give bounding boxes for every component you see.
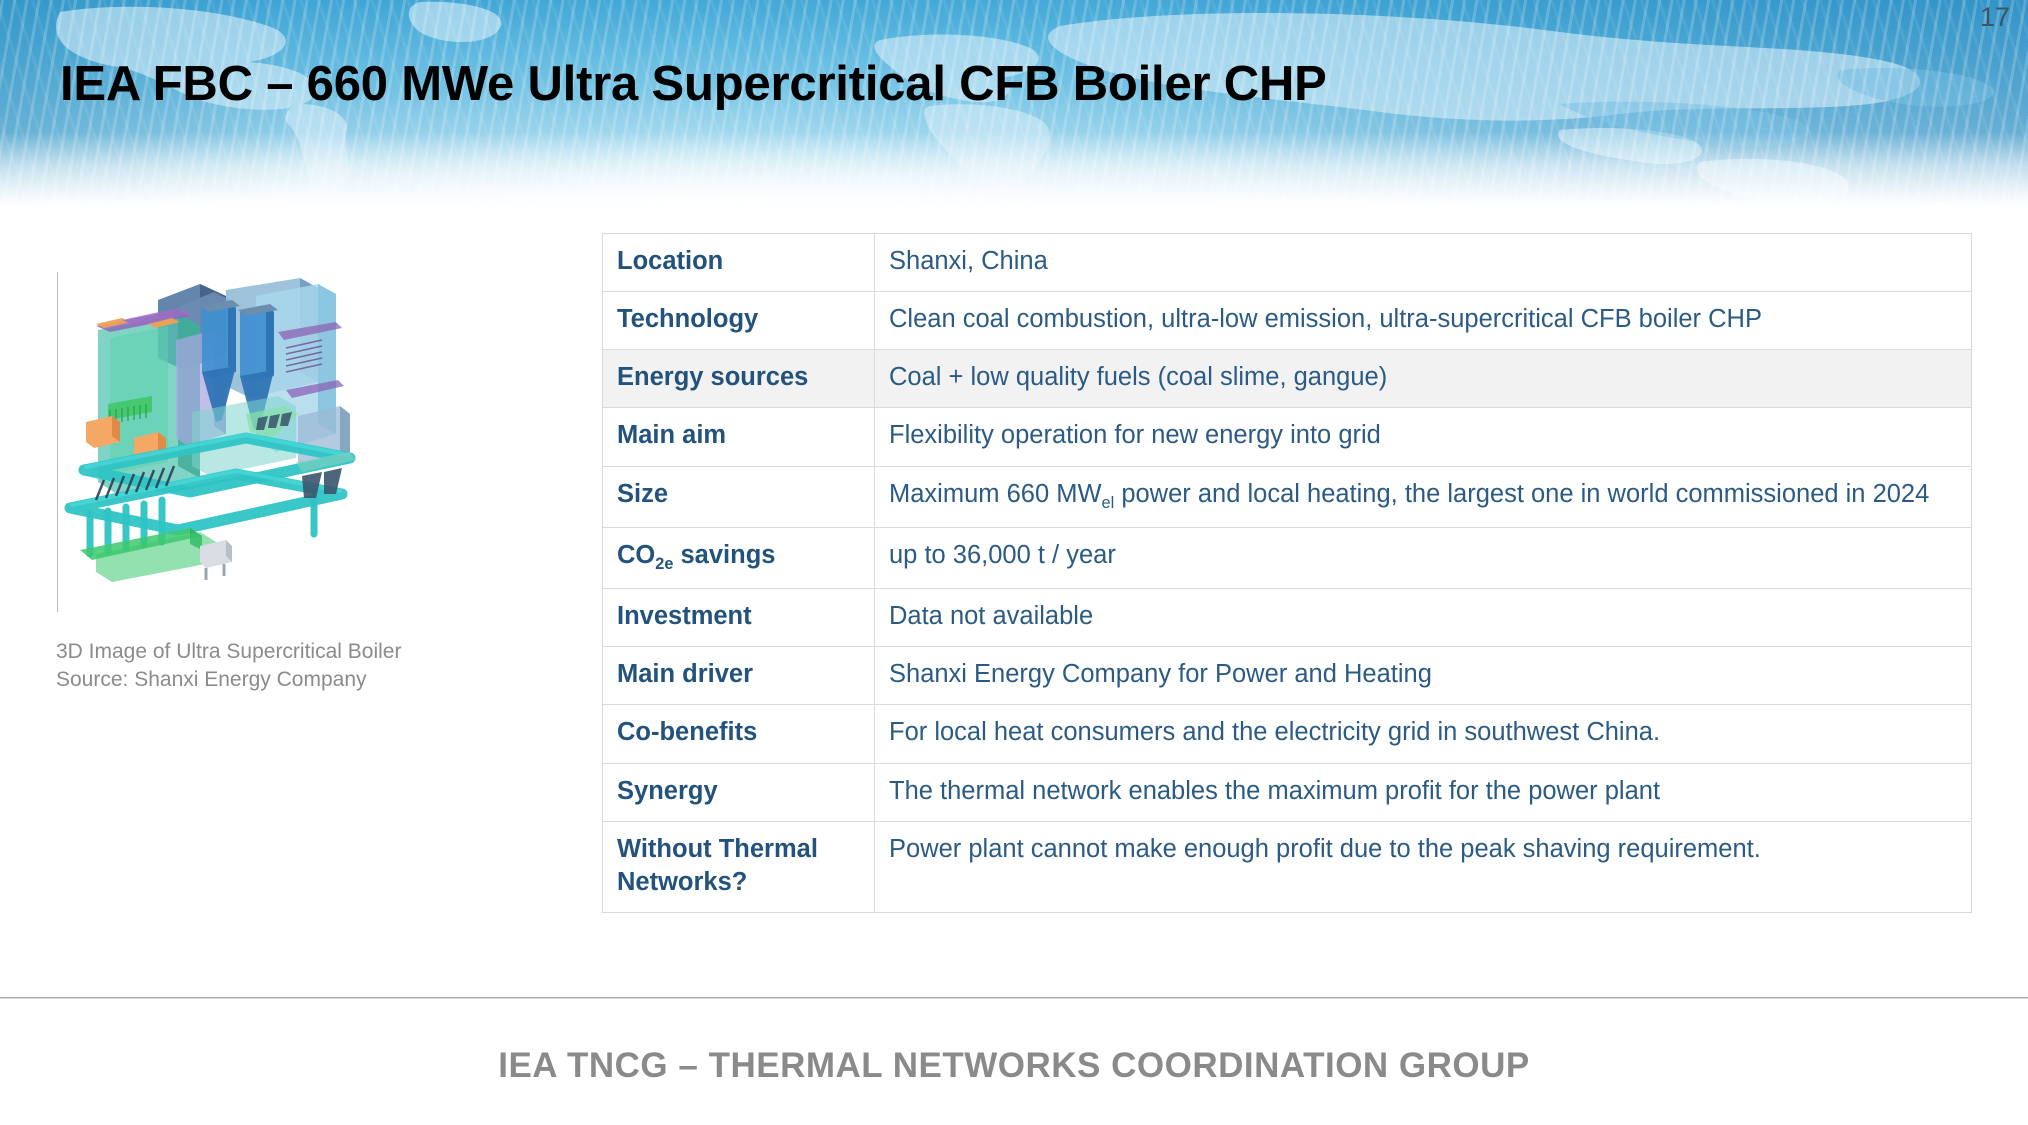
boiler-3d-render-icon bbox=[50, 262, 370, 582]
spec-table-body: LocationShanxi, ChinaTechnologyClean coa… bbox=[603, 234, 1972, 913]
spec-value-cell: up to 36,000 t / year bbox=[875, 527, 1972, 588]
spec-value-cell: Shanxi Energy Company for Power and Heat… bbox=[875, 647, 1972, 705]
table-row: SizeMaximum 660 MWel power and local hea… bbox=[603, 466, 1972, 527]
table-row: Main driverShanxi Energy Company for Pow… bbox=[603, 647, 1972, 705]
figure-panel: 3D Image of Ultra Supercritical Boiler S… bbox=[40, 250, 560, 710]
spec-label-cell: CO2e savings bbox=[603, 527, 875, 588]
spec-value-cell: Power plant cannot make enough profit du… bbox=[875, 821, 1972, 912]
slide-header-banner: 17 IEA FBC – 660 MWe Ultra Supercritical… bbox=[0, 0, 2028, 206]
spec-value-cell: For local heat consumers and the electri… bbox=[875, 705, 1972, 763]
spec-label-cell: Energy sources bbox=[603, 350, 875, 408]
footer-divider bbox=[0, 997, 2028, 999]
spec-label-cell: Size bbox=[603, 466, 875, 527]
spec-value-cell: Clean coal combustion, ultra-low emissio… bbox=[875, 292, 1972, 350]
spec-label-cell: Main driver bbox=[603, 647, 875, 705]
table-row: Main aimFlexibility operation for new en… bbox=[603, 408, 1972, 466]
table-row: InvestmentData not available bbox=[603, 589, 1972, 647]
table-row: SynergyThe thermal network enables the m… bbox=[603, 763, 1972, 821]
spec-value-cell: Maximum 660 MWel power and local heating… bbox=[875, 466, 1972, 527]
spec-value-cell: Data not available bbox=[875, 589, 1972, 647]
spec-label-cell: Co-benefits bbox=[603, 705, 875, 763]
table-row: TechnologyClean coal combustion, ultra-l… bbox=[603, 292, 1972, 350]
page-title: IEA FBC – 660 MWe Ultra Supercritical CF… bbox=[60, 56, 1327, 112]
spec-value-cell: Flexibility operation for new energy int… bbox=[875, 408, 1972, 466]
slide-number: 17 bbox=[1980, 2, 2010, 33]
footer-label: IEA TNCG – THERMAL NETWORKS COORDINATION… bbox=[0, 1046, 2028, 1086]
figure-caption: 3D Image of Ultra Supercritical Boiler S… bbox=[56, 638, 401, 693]
table-row: LocationShanxi, China bbox=[603, 234, 1972, 292]
table-row: Energy sourcesCoal + low quality fuels (… bbox=[603, 350, 1972, 408]
table-row: Without Thermal Networks?Power plant can… bbox=[603, 821, 1972, 912]
spec-value-cell: Coal + low quality fuels (coal slime, ga… bbox=[875, 350, 1972, 408]
spec-label-cell: Synergy bbox=[603, 763, 875, 821]
project-spec-table: LocationShanxi, ChinaTechnologyClean coa… bbox=[602, 233, 1972, 913]
header-bottom-fade bbox=[0, 132, 2028, 206]
spec-label-cell: Without Thermal Networks? bbox=[603, 821, 875, 912]
spec-value-cell: Shanxi, China bbox=[875, 234, 1972, 292]
spec-label-cell: Location bbox=[603, 234, 875, 292]
table-row: Co-benefitsFor local heat consumers and … bbox=[603, 705, 1972, 763]
table-row: CO2e savingsup to 36,000 t / year bbox=[603, 527, 1972, 588]
slide: 17 IEA FBC – 660 MWe Ultra Supercritical… bbox=[0, 0, 2028, 1125]
spec-value-cell: The thermal network enables the maximum … bbox=[875, 763, 1972, 821]
spec-label-cell: Technology bbox=[603, 292, 875, 350]
spec-label-cell: Investment bbox=[603, 589, 875, 647]
spec-label-cell: Main aim bbox=[603, 408, 875, 466]
